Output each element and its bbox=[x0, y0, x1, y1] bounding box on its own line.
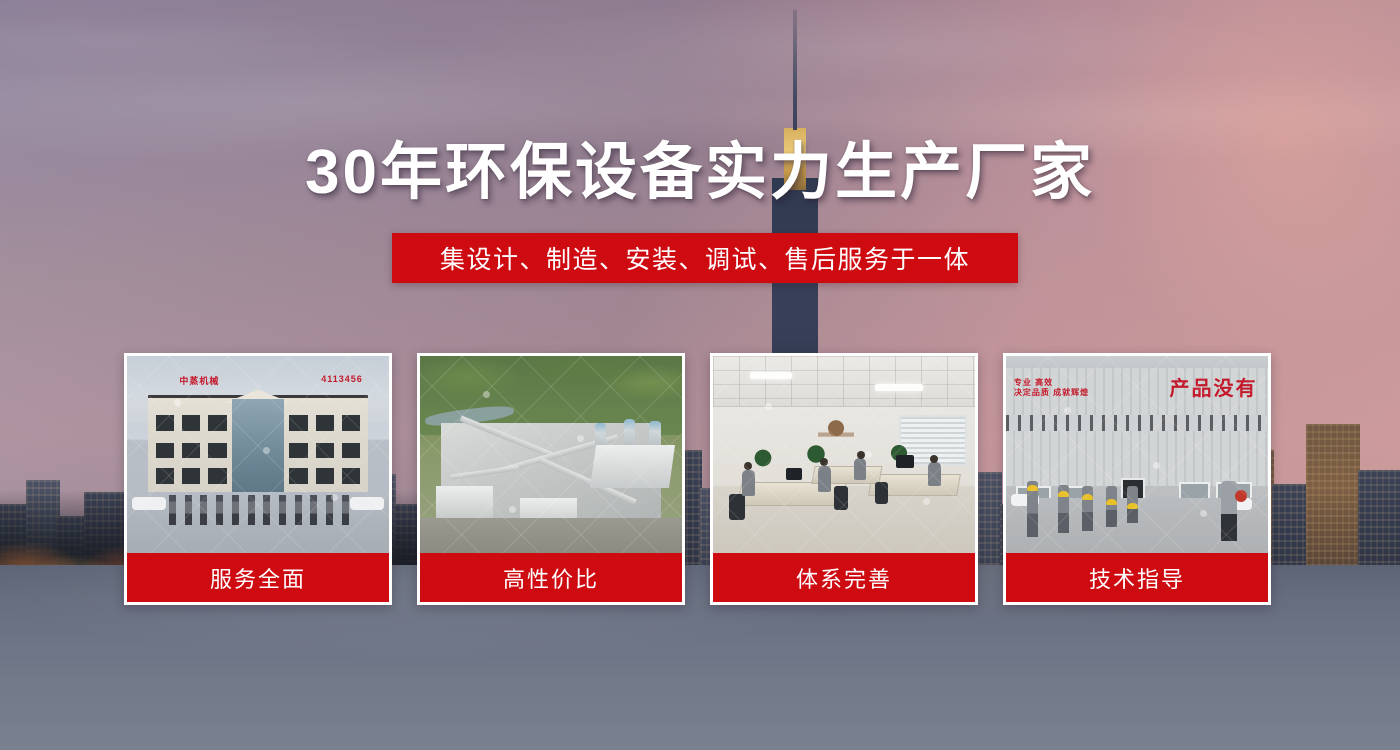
feature-card[interactable]: 体系完善 bbox=[710, 353, 978, 605]
card-photo-office-building: 中蒸机械 4113456 bbox=[127, 356, 389, 553]
card-caption: 服务全面 bbox=[127, 553, 389, 602]
card-caption: 技术指导 bbox=[1006, 553, 1268, 602]
card-photo-office-interior bbox=[713, 356, 975, 553]
card-photo-workshop-training: 产品没有 专业 高效决定品质 成就辉煌 bbox=[1006, 356, 1268, 553]
page-title: 30年环保设备实力生产厂家 bbox=[0, 136, 1400, 210]
feature-card-row: 中蒸机械 4113456 bbox=[124, 353, 1278, 605]
factory-slogan-small: 专业 高效决定品质 成就辉煌 bbox=[1014, 378, 1089, 398]
building-phone: 4113456 bbox=[321, 374, 363, 384]
tower-antenna bbox=[793, 10, 797, 130]
feature-card[interactable]: 产品没有 专业 高效决定品质 成就辉煌 bbox=[1003, 353, 1271, 605]
hero-banner: 30年环保设备实力生产厂家 集设计、制造、安装、调试、售后服务于一体 中蒸机械 … bbox=[0, 0, 1400, 750]
card-photo-plant-aerial bbox=[420, 356, 682, 553]
feature-card[interactable]: 高性价比 bbox=[417, 353, 685, 605]
subtitle-banner: 集设计、制造、安装、调试、售后服务于一体 bbox=[392, 233, 1018, 283]
subtitle-text: 集设计、制造、安装、调试、售后服务于一体 bbox=[440, 240, 970, 276]
card-caption: 高性价比 bbox=[420, 553, 682, 602]
factory-slogan: 产品没有 bbox=[1170, 372, 1258, 401]
building-signage: 中蒸机械 bbox=[179, 374, 219, 387]
card-caption: 体系完善 bbox=[713, 553, 975, 602]
feature-card[interactable]: 中蒸机械 4113456 bbox=[124, 353, 392, 605]
